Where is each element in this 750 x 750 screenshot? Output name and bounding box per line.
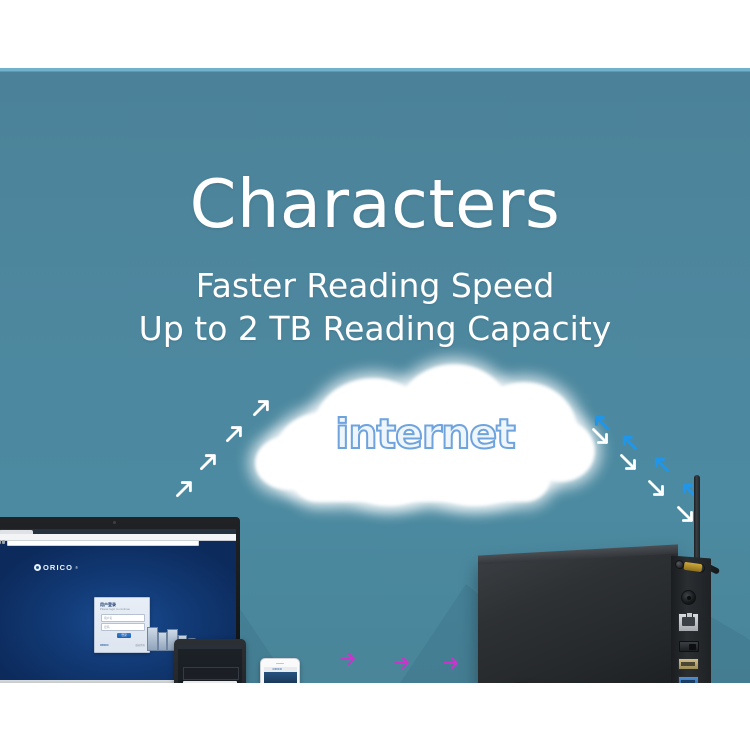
tablet-device: ORICO <box>174 639 246 683</box>
back-button[interactable] <box>0 540 1 543</box>
username-placeholder: 用户名 <box>104 616 112 620</box>
url-input[interactable] <box>7 540 199 545</box>
subtitle-line-2: Up to 2 TB Reading Capacity <box>0 311 750 348</box>
internet-cloud: internet <box>255 364 595 514</box>
username-field[interactable]: 用户名 <box>101 614 145 622</box>
ethernet-port <box>678 613 699 632</box>
tablet-username-field[interactable] <box>183 681 237 683</box>
upload-arrow <box>196 448 222 474</box>
tablet-screen: ORICO <box>178 645 242 683</box>
login-subtitle: Please login to continue <box>100 608 130 611</box>
trademark-symbol: ® <box>75 565 78 570</box>
orico-logo: ORICO ® <box>34 563 78 572</box>
return-arrow <box>590 411 612 433</box>
teal-background-band: Characters Faster Reading Speed Up to 2 … <box>0 68 750 683</box>
orico-mark-icon <box>34 564 41 571</box>
footer-brand: ORICO <box>100 644 109 647</box>
orico-wordmark: ORICO <box>43 563 73 572</box>
cloud-puff <box>433 464 517 506</box>
phone-screen: ORICO <box>264 667 297 683</box>
download-arrow <box>643 475 669 501</box>
phone-hero-image <box>264 672 297 683</box>
phone-speaker <box>276 663 284 664</box>
login-footer: ORICO 版权所有 <box>100 643 145 647</box>
product-banner-image: Characters Faster Reading Speed Up to 2 … <box>0 0 750 750</box>
forward-button[interactable] <box>2 540 5 543</box>
nas-hard-drive-enclosure <box>478 548 716 683</box>
device-arrow <box>338 649 358 669</box>
upload-arrow <box>249 394 275 420</box>
power-jack-port <box>681 590 696 605</box>
page-title: Characters <box>0 171 750 238</box>
device-arrow <box>441 653 461 673</box>
cloud-puff <box>351 462 427 506</box>
smartphone-device: ORICO <box>260 658 300 683</box>
upload-arrow <box>222 420 248 446</box>
subtitle-line-1: Faster Reading Speed <box>0 268 750 305</box>
browser-address-bar[interactable] <box>0 534 236 541</box>
usb-3-port <box>678 676 699 683</box>
phone-brand-label: ORICO <box>273 668 283 671</box>
password-placeholder: 密码 <box>104 625 110 629</box>
upload-arrow <box>172 475 198 501</box>
return-arrow <box>618 431 640 453</box>
server-rack <box>158 632 167 651</box>
password-field[interactable]: 密码 <box>101 623 145 631</box>
wifi-antenna <box>694 475 700 567</box>
server-rack <box>147 627 158 651</box>
cloud-label: internet <box>255 410 595 458</box>
footer-note: 版权所有 <box>135 643 145 647</box>
enclosure-body <box>478 549 678 683</box>
return-arrow <box>650 453 672 475</box>
login-panel: 用户登录 Please login to continue 用户名 密码 登录 … <box>94 597 150 653</box>
power-switch[interactable] <box>679 641 699 652</box>
webcam-icon <box>113 521 116 524</box>
usb-2-port <box>678 658 699 670</box>
tablet-status-bar <box>178 645 242 649</box>
login-submit-button[interactable]: 登录 <box>117 633 131 638</box>
screw-icon <box>675 560 684 570</box>
tablet-login-panel <box>183 667 239 680</box>
device-arrow <box>392 653 412 673</box>
